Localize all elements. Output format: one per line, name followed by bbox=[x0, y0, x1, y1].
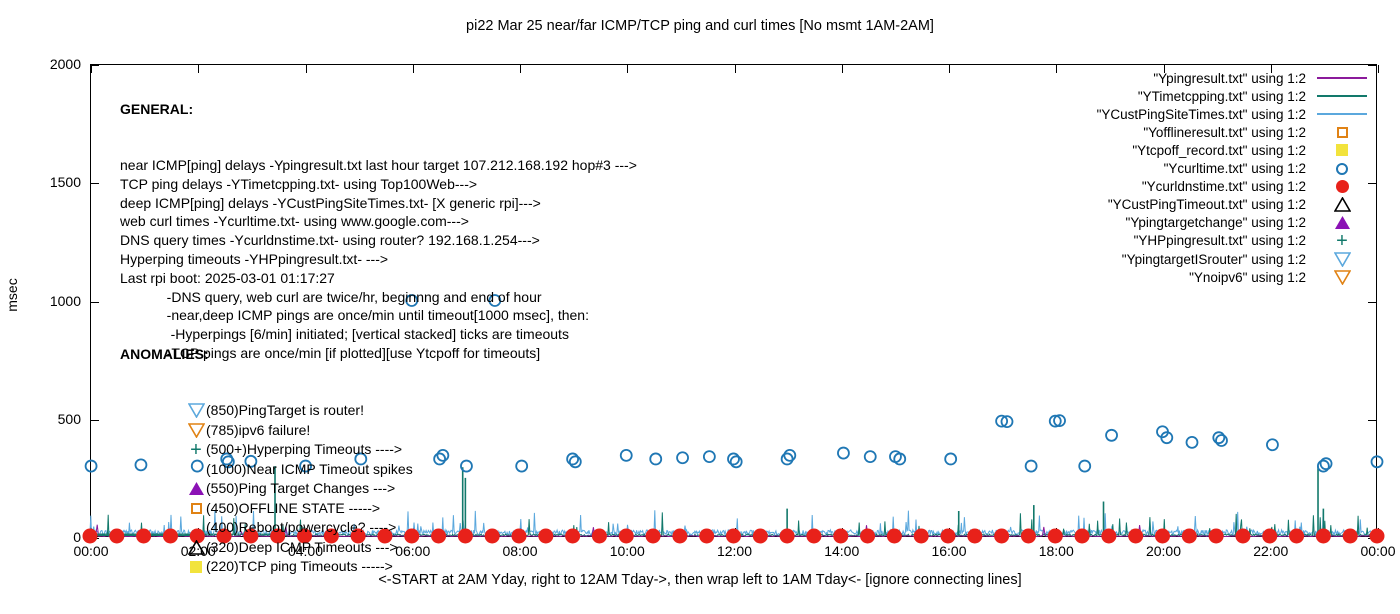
anomaly-item: (220)TCP ping Timeouts -----> bbox=[186, 557, 413, 577]
y-axis-label: msec bbox=[4, 265, 20, 325]
triangle-down-open-icon bbox=[1314, 250, 1370, 268]
x-tick-label: 18:00 bbox=[1021, 543, 1091, 559]
x-tick-label: 10:00 bbox=[592, 543, 662, 559]
triangle-up-filled-icon bbox=[1314, 214, 1370, 232]
legend-entry-label: "Yofflineresult.txt" using 1:2 bbox=[1143, 125, 1306, 140]
legend-entry-label: "Ytcpoff_record.txt" using 1:2 bbox=[1132, 143, 1306, 158]
x-tick bbox=[520, 528, 521, 536]
legend-line-icon bbox=[1314, 69, 1370, 87]
x-tick-label: 14:00 bbox=[807, 543, 877, 559]
x-tick-label: 08:00 bbox=[485, 543, 555, 559]
y-tick-label: 500 bbox=[21, 411, 81, 427]
y-tick bbox=[1368, 420, 1376, 421]
y-tick bbox=[91, 302, 99, 303]
legend-entry-label: "YTimetcpping.txt" using 1:2 bbox=[1138, 89, 1306, 104]
chart-title: pi22 Mar 25 near/far ICMP/TCP ping and c… bbox=[0, 18, 1400, 34]
x-tick-label: 00:00 bbox=[1343, 543, 1400, 559]
triangle-up-open-icon bbox=[186, 538, 206, 556]
anomaly-label: (550)Ping Target Changes ---> bbox=[206, 479, 395, 498]
anomaly-item: (400)Reboot/powercycle? ----> bbox=[186, 518, 413, 538]
x-tick-label: 20:00 bbox=[1129, 543, 1199, 559]
general-note-line: near ICMP[ping] delays -Ypingresult.txt … bbox=[120, 156, 637, 175]
general-note-line: Hyperping timeouts -YHPpingresult.txt- -… bbox=[120, 250, 637, 269]
square-filled-icon bbox=[186, 558, 206, 576]
circle-filled-icon bbox=[1314, 178, 1370, 196]
x-tick bbox=[1164, 528, 1165, 536]
chart-root: pi22 Mar 25 near/far ICMP/TCP ping and c… bbox=[0, 0, 1400, 600]
x-tick bbox=[1164, 65, 1165, 73]
x-tick bbox=[842, 528, 843, 536]
x-tick bbox=[413, 528, 414, 536]
general-note-line: web curl times -Ycurltime.txt- using www… bbox=[120, 212, 637, 231]
square-open-icon bbox=[187, 499, 205, 517]
legend-entry-label: "Ypingresult.txt" using 1:2 bbox=[1153, 71, 1306, 86]
triangle-down-open-icon bbox=[186, 402, 206, 420]
x-tick bbox=[1271, 528, 1272, 536]
general-note-line: -DNS query, web curl are twice/hr, begin… bbox=[120, 288, 637, 307]
legend-entry-label: "Ycurltime.txt" using 1:2 bbox=[1164, 161, 1306, 176]
general-note-line: deep ICMP[ping] delays -YCustPingSiteTim… bbox=[120, 194, 637, 213]
legend-entry[interactable]: "Ytcpoff_record.txt" using 1:2 bbox=[1132, 141, 1370, 159]
anomaly-label: (450)OFFLINE STATE -----> bbox=[206, 499, 380, 518]
triangle-up-filled-icon bbox=[187, 480, 205, 498]
x-tick bbox=[627, 528, 628, 536]
x-tick bbox=[842, 65, 843, 73]
y-tick bbox=[91, 183, 99, 184]
legend-entry[interactable]: "Ypingtargetchange" using 1:2 bbox=[1126, 214, 1370, 232]
circle-open-icon bbox=[1314, 160, 1370, 178]
general-note-line: TCP ping delays -YTimetcpping.txt- using… bbox=[120, 175, 637, 194]
legend-entry-label: "Ycurldnstime.txt" using 1:2 bbox=[1142, 179, 1306, 194]
legend-entry[interactable]: "YpingtargetISrouter" using 1:2 bbox=[1122, 250, 1370, 268]
legend-entry[interactable]: "YCustPingSiteTimes.txt" using 1:2 bbox=[1097, 105, 1370, 123]
x-tick bbox=[91, 65, 92, 73]
x-tick bbox=[91, 528, 92, 536]
y-tick bbox=[91, 65, 99, 66]
y-tick bbox=[1368, 65, 1376, 66]
legend-entry[interactable]: "Ycurldnstime.txt" using 1:2 bbox=[1142, 178, 1370, 196]
triangle-up-filled-icon bbox=[186, 480, 206, 498]
general-note-line: DNS query times -Ycurldnstime.txt- using… bbox=[120, 231, 637, 250]
plus-icon: + bbox=[1314, 232, 1370, 250]
x-tick bbox=[1378, 65, 1379, 73]
x-tick bbox=[1271, 65, 1272, 73]
y-tick-label: 1000 bbox=[21, 293, 81, 309]
x-tick bbox=[1056, 528, 1057, 536]
y-tick bbox=[91, 420, 99, 421]
square-open-icon bbox=[1314, 123, 1370, 141]
x-tick bbox=[949, 65, 950, 73]
y-tick bbox=[91, 538, 99, 539]
anomaly-item: (785)ipv6 failure! bbox=[186, 420, 413, 440]
general-heading: GENERAL: bbox=[120, 100, 637, 119]
legend-entry-label: "YCustPingSiteTimes.txt" using 1:2 bbox=[1097, 107, 1306, 122]
triangle-up-open-icon bbox=[187, 538, 205, 556]
x-tick bbox=[735, 65, 736, 73]
legend-entry[interactable]: "Yofflineresult.txt" using 1:2 bbox=[1143, 123, 1370, 141]
legend-entry-label: "YpingtargetISrouter" using 1:2 bbox=[1122, 252, 1306, 267]
anomaly-label: (400)Reboot/powercycle? ----> bbox=[206, 518, 396, 537]
y-tick bbox=[1368, 538, 1376, 539]
triangle-down-open-icon bbox=[187, 421, 205, 439]
legend-line-icon bbox=[1314, 87, 1370, 105]
square-open-icon bbox=[186, 499, 206, 517]
legend-entry[interactable]: "YCustPingTimeout.txt" using 1:2 bbox=[1108, 196, 1370, 214]
legend-entry-label: "YHPpingresult.txt" using 1:2 bbox=[1134, 233, 1306, 248]
anomaly-label: (220)TCP ping Timeouts -----> bbox=[206, 557, 393, 576]
x-tick-label: 22:00 bbox=[1236, 543, 1306, 559]
legend-entry[interactable]: "Ycurltime.txt" using 1:2 bbox=[1164, 160, 1370, 178]
y-tick bbox=[1368, 183, 1376, 184]
anomaly-label: (320)Deep ICMP Timeouts ---> bbox=[206, 538, 398, 557]
square-filled-icon bbox=[1314, 141, 1370, 159]
anomaly-item: (320)Deep ICMP Timeouts ---> bbox=[186, 537, 413, 557]
y-tick-label: 1500 bbox=[21, 174, 81, 190]
legend-entry-label: "Ypingtargetchange" using 1:2 bbox=[1126, 215, 1306, 230]
anomaly-label: (785)ipv6 failure! bbox=[206, 421, 310, 440]
legend-entry[interactable]: "Ypingresult.txt" using 1:2 bbox=[1153, 69, 1370, 87]
x-tick bbox=[735, 528, 736, 536]
anomalies-heading: ANOMALIES: bbox=[120, 345, 413, 364]
anomaly-label: (1000)Near ICMP Timeout spikes bbox=[206, 460, 413, 479]
x-tick bbox=[1056, 65, 1057, 73]
x-tick bbox=[1378, 528, 1379, 536]
square-filled-icon bbox=[187, 558, 205, 576]
x-tick-label: 00:00 bbox=[56, 543, 126, 559]
x-tick-label: 16:00 bbox=[914, 543, 984, 559]
y-tick-label: 2000 bbox=[21, 56, 81, 72]
legend-entry[interactable]: "Ynoipv6" using 1:2 bbox=[1189, 268, 1370, 286]
plus-icon: + bbox=[187, 441, 205, 459]
triangle-down-open-icon bbox=[187, 402, 205, 420]
triangle-down-open-icon bbox=[186, 421, 206, 439]
plus-icon: + bbox=[186, 441, 206, 459]
legend-entry[interactable]: "YTimetcpping.txt" using 1:2 bbox=[1138, 87, 1370, 105]
legend-entry-label: "YCustPingTimeout.txt" using 1:2 bbox=[1108, 197, 1306, 212]
y-tick bbox=[1368, 302, 1376, 303]
x-tick-label: 12:00 bbox=[700, 543, 770, 559]
legend-line-icon bbox=[1314, 105, 1370, 123]
anomaly-item: +(500+)Hyperping Timeouts ----> bbox=[186, 440, 413, 460]
anomaly-label: (500+)Hyperping Timeouts ----> bbox=[206, 440, 402, 459]
legend-entry-label: "Ynoipv6" using 1:2 bbox=[1189, 270, 1306, 285]
anomaly-item: (550)Ping Target Changes ---> bbox=[186, 479, 413, 499]
anomaly-label: (850)PingTarget is router! bbox=[206, 401, 364, 420]
legend-entry[interactable]: "YHPpingresult.txt" using 1:2+ bbox=[1134, 232, 1370, 250]
anomaly-item: (1000)Near ICMP Timeout spikes bbox=[186, 459, 413, 479]
triangle-down-open-icon bbox=[1314, 268, 1370, 286]
triangle-up-open-icon bbox=[1314, 196, 1370, 214]
anomaly-item: (850)PingTarget is router! bbox=[186, 401, 413, 421]
anomaly-item: (450)OFFLINE STATE -----> bbox=[186, 498, 413, 518]
general-note-line: Last rpi boot: 2025-03-01 01:17:27 bbox=[120, 269, 637, 288]
anomalies-notes: ANOMALIES: (850)PingTarget is router!(78… bbox=[120, 307, 413, 614]
x-tick bbox=[949, 528, 950, 536]
